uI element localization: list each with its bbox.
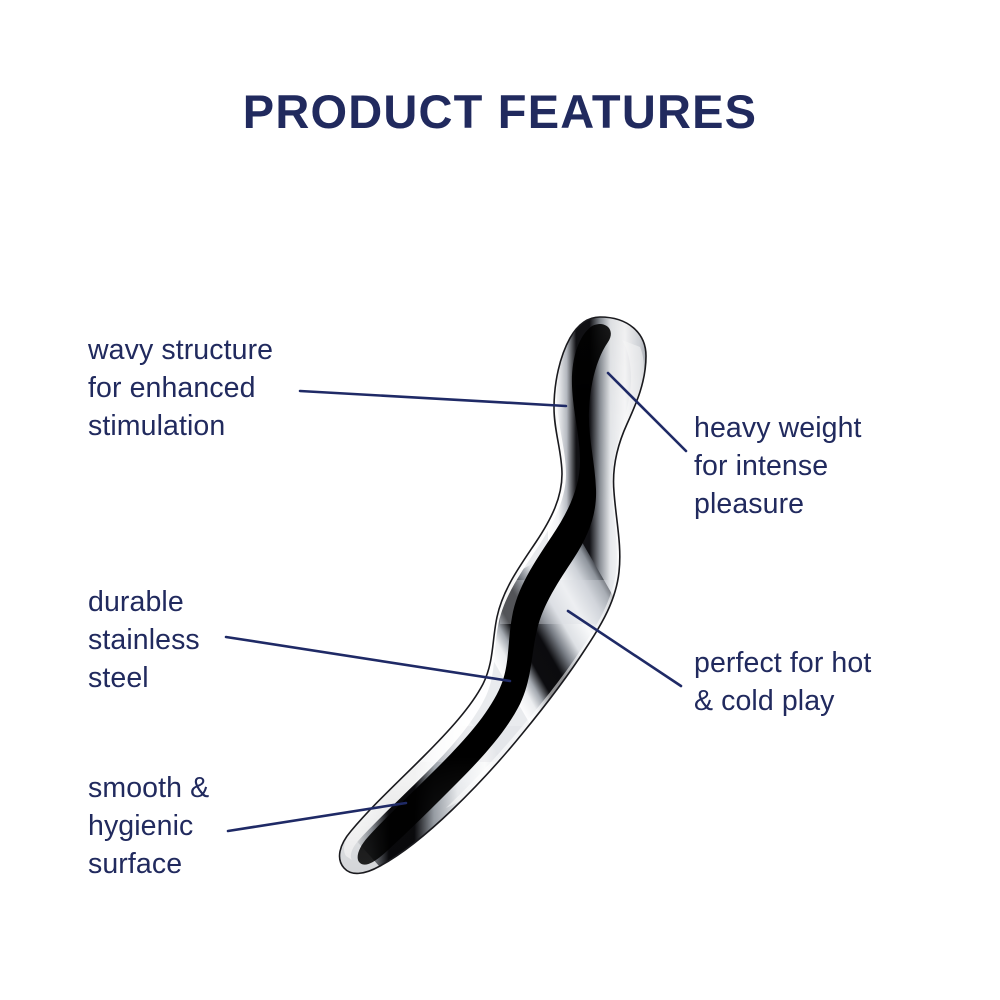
feature-label-durable-stainless-steel: durable stainless steel — [88, 584, 328, 698]
wand-body — [320, 300, 680, 919]
product-features-infographic: PRODUCT FEATURES — [0, 0, 1000, 1000]
feature-label-heavy-weight: heavy weight for intense pleasure — [694, 410, 954, 524]
feature-label-hot-cold-play: perfect for hot & cold play — [694, 645, 959, 721]
feature-label-smooth-hygienic-surface: smooth & hygienic surface — [88, 770, 338, 884]
feature-label-wavy-structure: wavy structure for enhanced stimulation — [88, 332, 358, 446]
